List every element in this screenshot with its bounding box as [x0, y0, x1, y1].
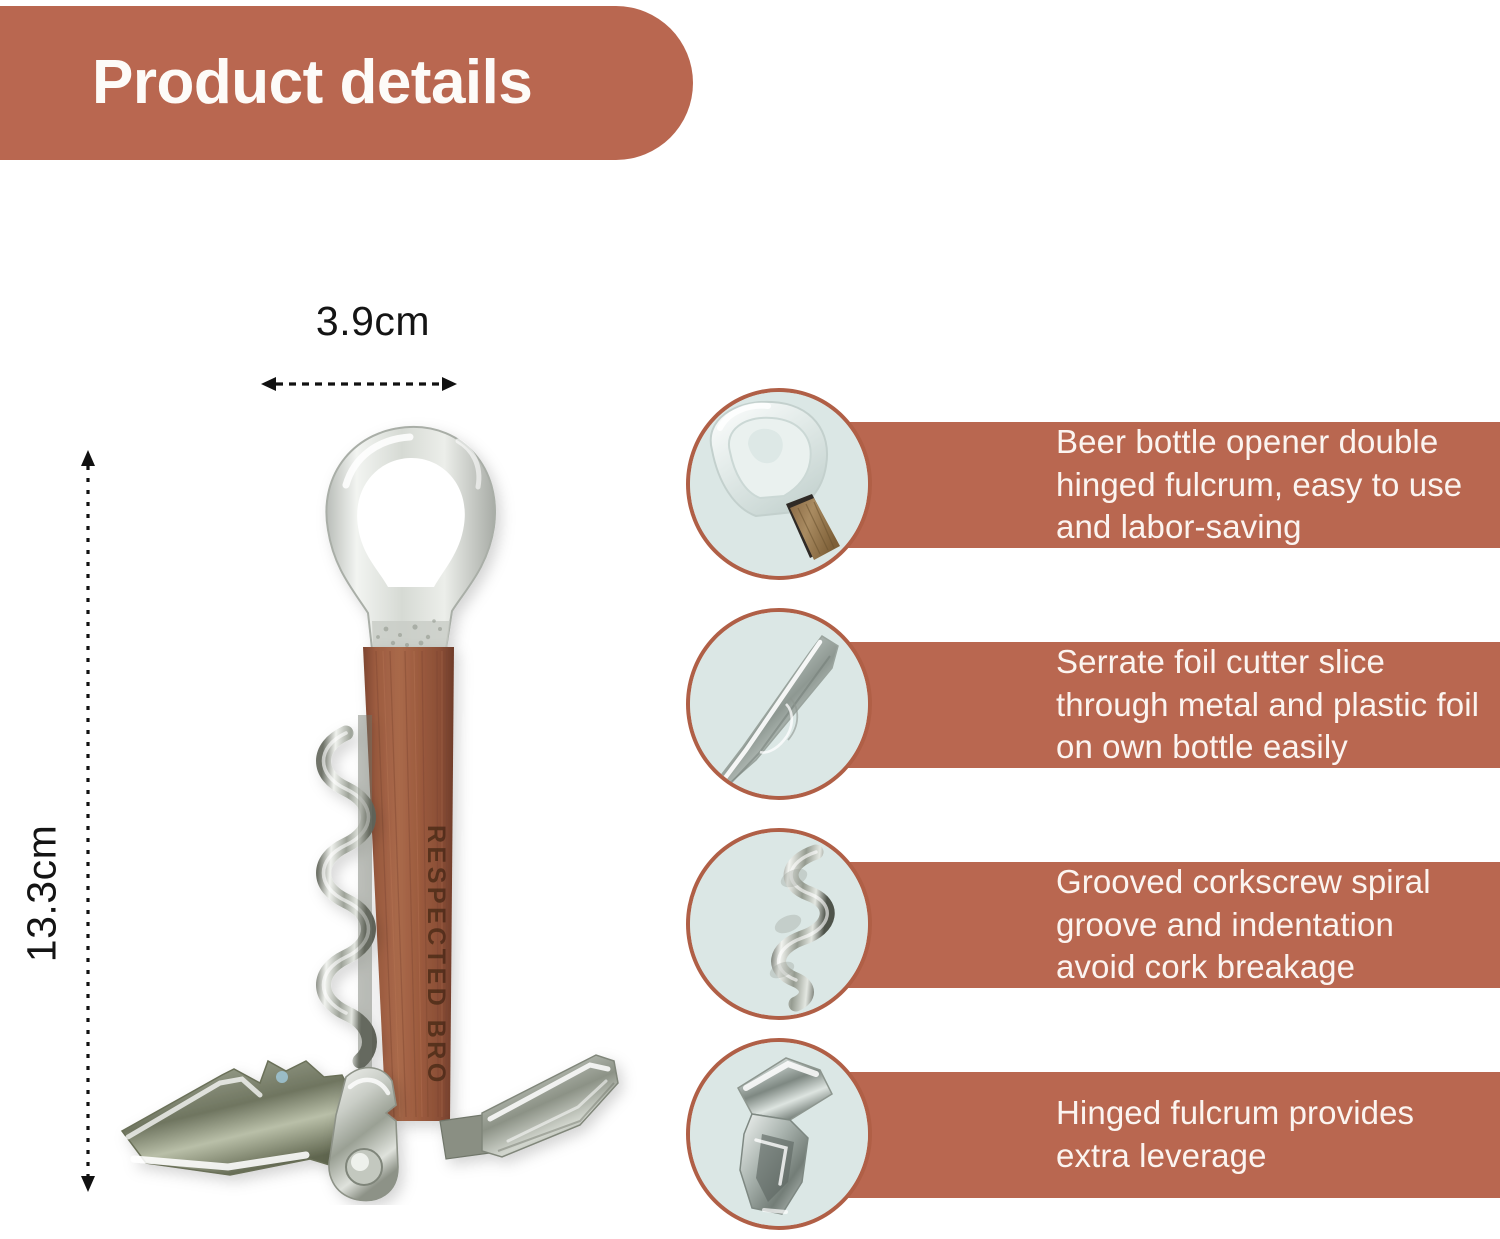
feature-text-bar: Hinged fulcrum provides extra leverage: [846, 1072, 1500, 1198]
feature-text-bar: Grooved corkscrew spiral groove and inde…: [846, 862, 1500, 988]
feature-callout-hinged-fulcrum: Hinged fulcrum provides extra leverage: [686, 1038, 1500, 1230]
feature-callout-foil-cutter: Serrate foil cutter slice through metal …: [686, 608, 1500, 800]
feature-text-bar: Beer bottle opener double hinged fulcrum…: [846, 422, 1500, 548]
feature-callout-list: Beer bottle opener double hinged fulcrum…: [0, 0, 1500, 1239]
feature-label: Beer bottle opener double hinged fulcrum…: [1056, 421, 1482, 550]
foil-cutter-thumbnail: [686, 608, 872, 800]
feature-label: Hinged fulcrum provides extra leverage: [1056, 1092, 1482, 1178]
feature-label: Serrate foil cutter slice through metal …: [1056, 641, 1482, 770]
product-details-infographic: Product details 3.9cm 13.3cm: [0, 0, 1500, 1239]
hinged-fulcrum-thumbnail: [686, 1038, 872, 1230]
feature-callout-corkscrew: Grooved corkscrew spiral groove and inde…: [686, 828, 1500, 1020]
feature-label: Grooved corkscrew spiral groove and inde…: [1056, 861, 1482, 990]
bottle-opener-thumbnail: [686, 388, 872, 580]
corkscrew-thumbnail: [686, 828, 872, 1020]
feature-callout-bottle-opener: Beer bottle opener double hinged fulcrum…: [686, 388, 1500, 580]
feature-text-bar: Serrate foil cutter slice through metal …: [846, 642, 1500, 768]
